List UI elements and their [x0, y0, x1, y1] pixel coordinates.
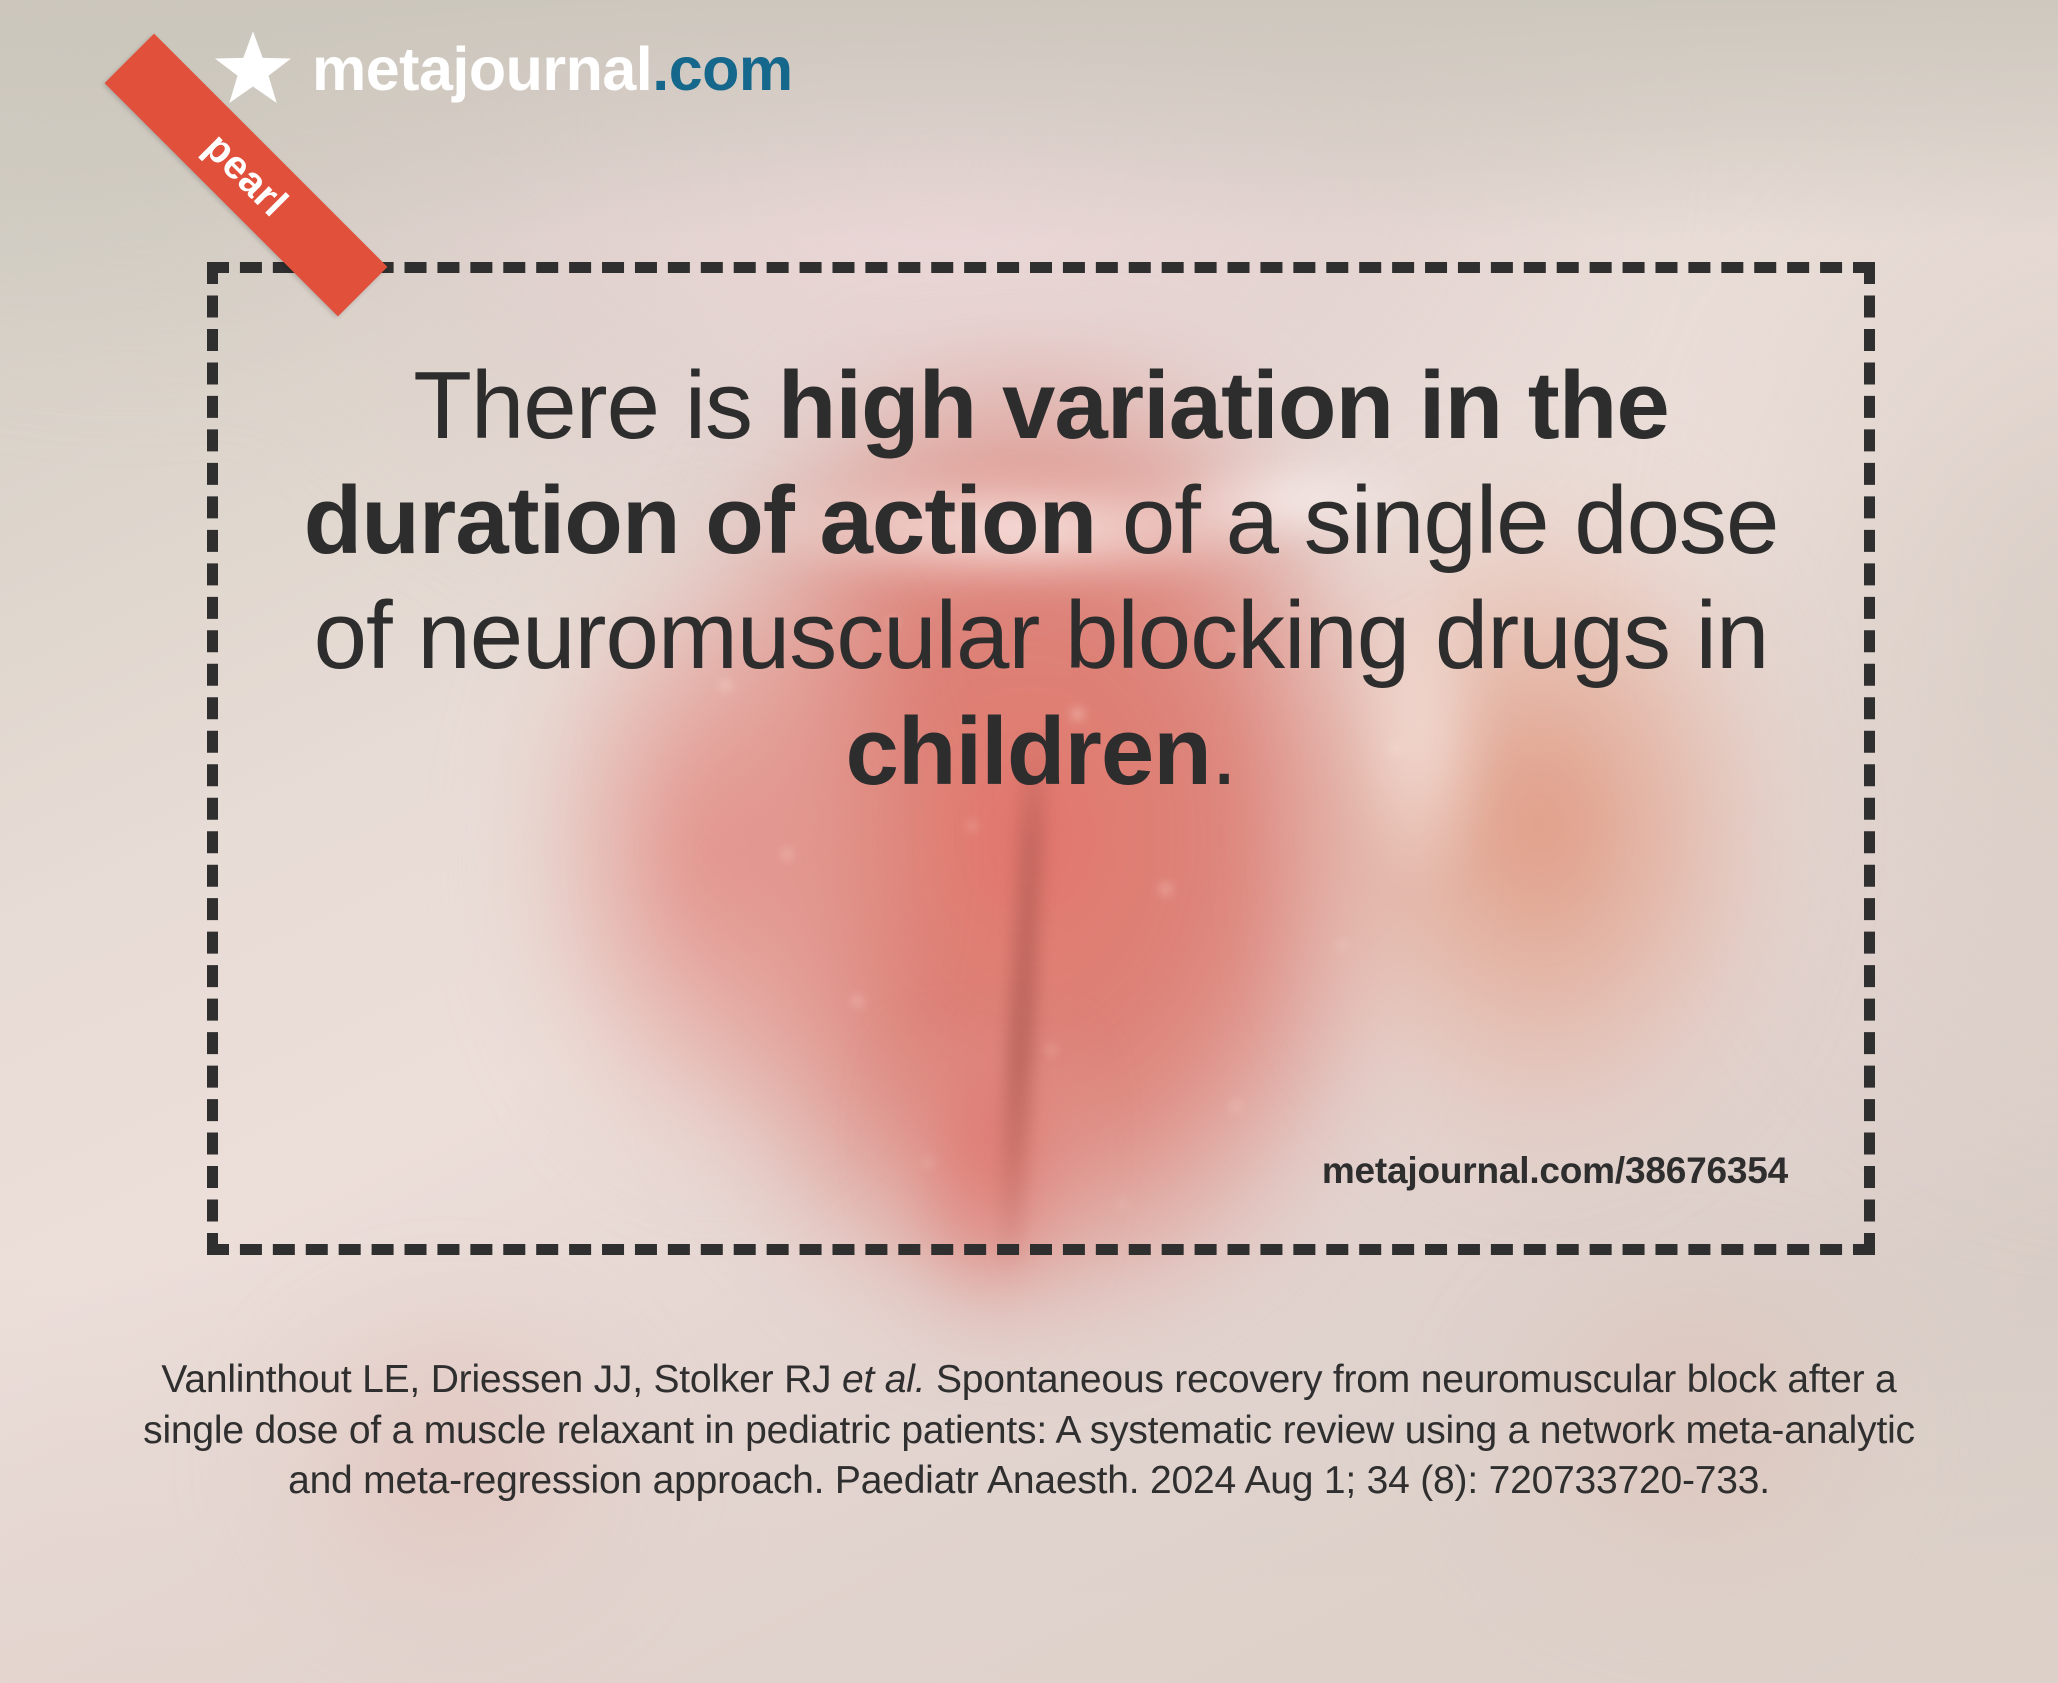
pearl-card: metajournal.com pearl There is high vari… [0, 0, 2058, 1683]
quote-segment-5: . [1211, 698, 1237, 805]
brand-wordmark: metajournal.com [312, 39, 793, 100]
citation-text: Vanlinthout LE, Driessen JJ, Stolker RJ … [129, 1355, 1929, 1507]
permalink-text[interactable]: metajournal.com/38676354 [1322, 1150, 1788, 1192]
brand-name: metajournal [312, 35, 652, 103]
star-icon [212, 28, 294, 110]
quote-segment-4: children [845, 698, 1210, 805]
brand-tld: .com [652, 35, 792, 103]
citation-authors: Vanlinthout LE, Driessen JJ, Stolker RJ [161, 1358, 842, 1401]
quote-segment-1: There is [413, 352, 777, 459]
citation-et-al: et al. [842, 1358, 925, 1401]
pearl-quote-text: There is high variation in the duration … [300, 348, 1782, 809]
brand-logo[interactable]: metajournal.com [212, 28, 793, 110]
